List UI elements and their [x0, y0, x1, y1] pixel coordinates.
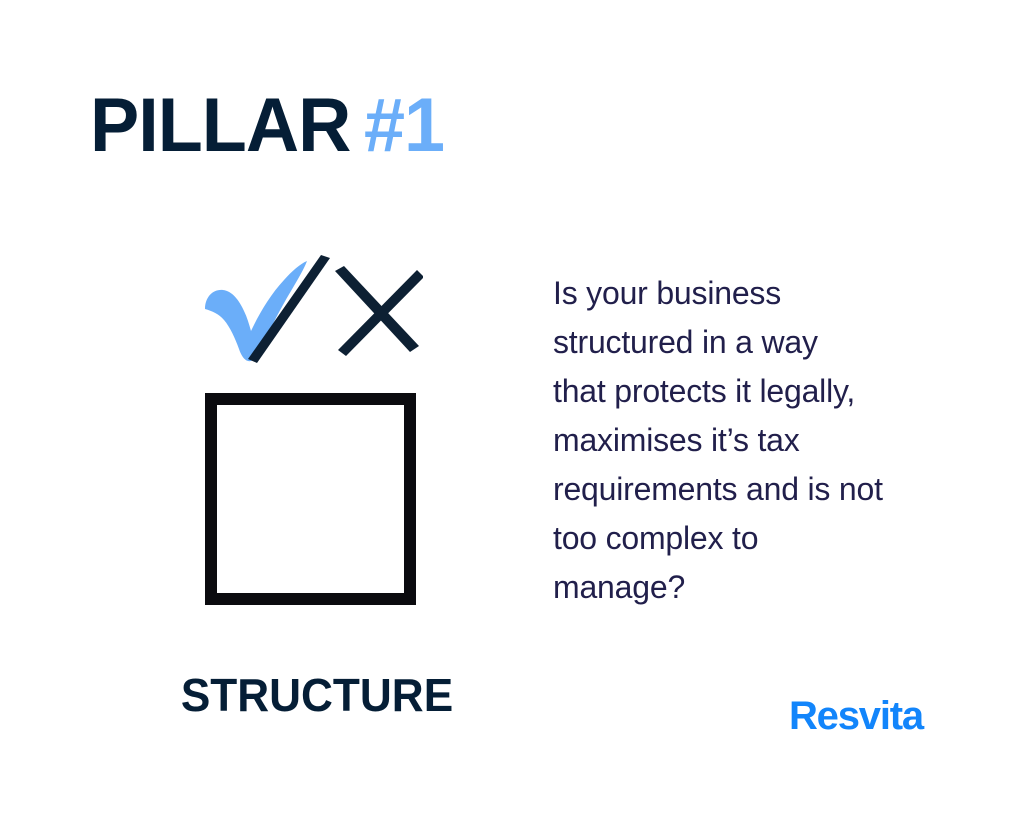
body-copy: Is your business structured in a way tha… — [553, 269, 953, 612]
pillar-caption: STRUCTURE — [152, 672, 482, 718]
page-title: PILLAR#1 — [90, 88, 444, 164]
body-copy-line: maximises it’s tax — [553, 416, 953, 465]
slash-icon — [248, 255, 330, 363]
body-copy-line: Is your business — [553, 269, 953, 318]
check-slash-cross-icon-group — [203, 253, 423, 365]
brand-logo: Resvita — [789, 696, 923, 736]
page-title-main: PILLAR — [90, 83, 350, 168]
body-copy-line: structured in a way — [553, 318, 953, 367]
page-title-accent: #1 — [364, 83, 444, 168]
body-copy-line: that protects it legally, — [553, 367, 953, 416]
body-copy-line: requirements and is not — [553, 465, 953, 514]
empty-square-icon — [205, 393, 416, 605]
body-copy-line: manage? — [553, 563, 953, 612]
slide-canvas: PILLAR#1 STRUCTURE Is your business stru… — [0, 0, 1024, 819]
body-copy-line: too complex to — [553, 514, 953, 563]
x-mark-icon — [335, 266, 423, 356]
